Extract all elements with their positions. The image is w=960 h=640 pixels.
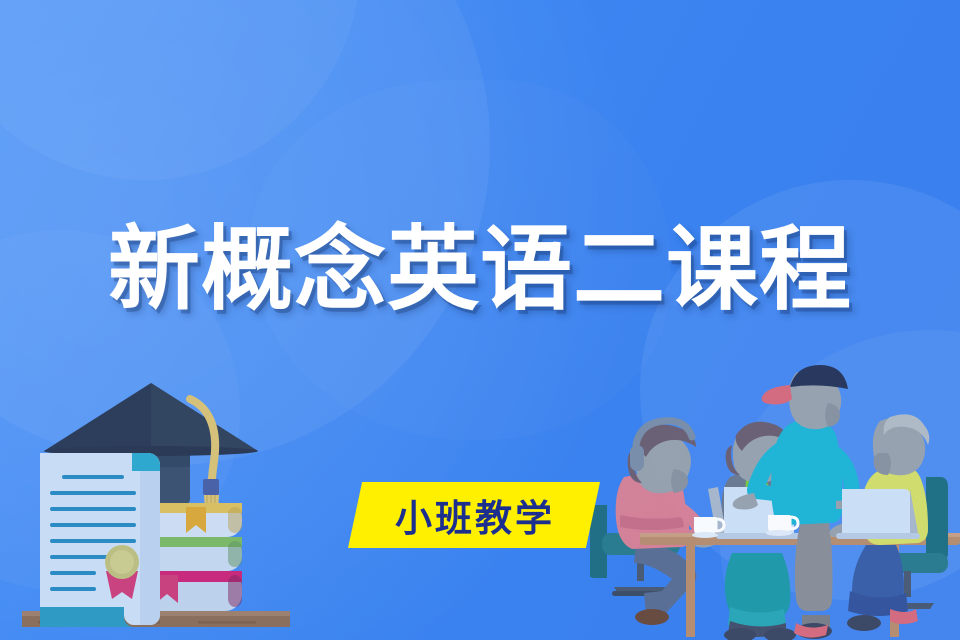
page-title: 新概念英语二课程 (108, 222, 852, 319)
study-group-illustration (590, 365, 960, 640)
certificate-icon (40, 453, 160, 627)
graduation-certificate-books-illustration (22, 375, 292, 640)
banner-title-container: 新概念英语二课程 (0, 222, 960, 319)
circle-top-left-secondary-shape (0, 0, 360, 180)
course-banner: 新概念英语二课程 小班教学 (0, 0, 960, 640)
badge-label: 小班教学 (348, 482, 600, 548)
laptop (836, 489, 920, 539)
small-class-badge: 小班教学 (348, 482, 600, 548)
